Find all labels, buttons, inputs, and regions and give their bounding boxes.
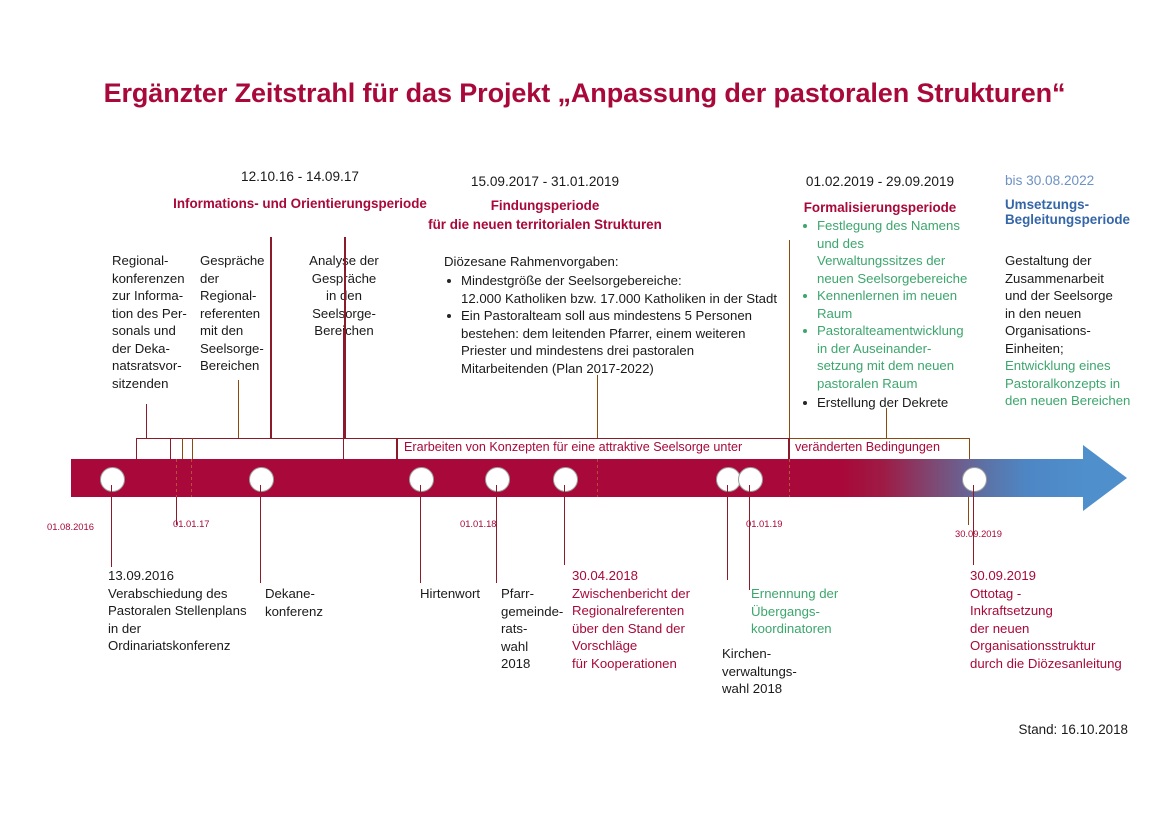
text-line: Regionalreferenten — [572, 602, 737, 620]
text-line: Vorschläge — [572, 637, 737, 655]
text-line: in den neuen — [1005, 305, 1155, 323]
bar-date-2016: 01.08.2016 — [47, 521, 94, 532]
bracket-divider — [396, 438, 398, 460]
page-title: Ergänzter Zeitstrahl für das Projekt „An… — [0, 78, 1169, 109]
event-ernennung-uebergangskoordinatoren: Ernennung der Übergangs- koordinatoren — [751, 585, 871, 638]
text-line: Organisations- — [1005, 322, 1155, 340]
period-2-name-line2: für die neuen territorialen Strukturen — [380, 216, 710, 234]
bar-date-2018: 01.01.18 — [460, 518, 497, 529]
text-line: referenten — [200, 305, 278, 323]
text-line: konferenz — [265, 603, 345, 621]
period-4-body-black: Gestaltung der Zusammenarbeit und der Se… — [1005, 252, 1155, 357]
text-line: Regional- — [112, 252, 194, 270]
bar-date-2019: 01.01.19 — [746, 518, 783, 529]
connector-line — [597, 375, 598, 438]
text-line: Bereichen — [200, 357, 278, 375]
text-line: 12.000 Katholiken bzw. 17.000 Katholiken… — [461, 290, 794, 308]
stand-footer: Stand: 16.10.2018 — [0, 722, 1128, 737]
text-line: rats- — [501, 620, 571, 638]
period-4-date-range: bis 30.08.2022 — [1005, 172, 1094, 190]
text-line: Verabschiedung des — [108, 585, 273, 603]
text-line: Erstellung der Dekrete — [817, 394, 985, 412]
text-line: und der Seelsorge — [1005, 287, 1155, 305]
text-line: Verwaltungssitzes der — [817, 252, 985, 270]
bullet-item: Erstellung der Dekrete — [800, 394, 985, 412]
text-line: wahl 2018 — [722, 680, 822, 698]
text-line: Gestaltung der — [1005, 252, 1155, 270]
bracket-tick — [192, 438, 193, 460]
text-line: Einheiten; — [1005, 340, 1155, 358]
text-line: pastoralen Raum — [817, 375, 985, 393]
text-line: in der Auseinander- — [817, 340, 985, 358]
text-line: sitzenden — [112, 375, 194, 393]
text-line: 13.09.2016 — [108, 567, 273, 585]
text-line: sonals und — [112, 322, 194, 340]
bullet-item: Mindestgröße der Seelsorgebereiche: 12.0… — [444, 272, 794, 307]
band-label-part2: veränderten Bedingungen — [795, 440, 940, 454]
bracket-tick — [182, 438, 183, 460]
text-line: der — [200, 270, 278, 288]
timeline-diagram: Ergänzter Zeitstrahl für das Projekt „An… — [0, 0, 1169, 827]
text-line: Hirtenwort — [420, 585, 500, 603]
bracket-end-left — [136, 438, 137, 460]
connector-line — [238, 380, 239, 438]
event-dekanekonferenz: Dekane- konferenz — [265, 585, 345, 620]
bullet-item: Kennenlernen im neuen Raum — [800, 287, 985, 322]
event-hirtenwort: Hirtenwort — [420, 585, 500, 603]
text-line: Zwischenbericht der — [572, 585, 737, 603]
text-line: Kennenlernen im neuen — [817, 287, 985, 305]
text-line: durch die Diözesanleitung — [970, 655, 1160, 673]
text-line: Priester und mindestens drei pastoralen — [461, 342, 794, 360]
period-3-name: Formalisierungsperiode — [780, 199, 980, 217]
text-line: Übergangs- — [751, 603, 871, 621]
text-line: der neuen — [970, 620, 1160, 638]
text-line: Mitarbeitenden (Plan 2017-2022) — [461, 360, 794, 378]
text-line: Dekane- — [265, 585, 345, 603]
text-line: 2018 — [501, 655, 571, 673]
date-tick — [111, 497, 112, 525]
text-line: zur Informa- — [112, 287, 194, 305]
bar-date-2017: 01.01.17 — [173, 518, 210, 529]
period-2-intro: Diözesane Rahmenvorgaben: — [444, 253, 784, 271]
bullet-item: Festlegung des Namens und des Verwaltung… — [800, 217, 985, 287]
connector-line — [886, 408, 887, 438]
connector-line — [270, 237, 272, 438]
text-line: Gespräche — [200, 252, 278, 270]
text-line: wahl — [501, 638, 571, 656]
event-verabschiedung-stellenplan: 13.09.2016 Verabschiedung des Pastoralen… — [108, 567, 273, 655]
text-line: setzung mit dem neuen — [817, 357, 985, 375]
timeline-bar — [71, 459, 1087, 497]
event-zwischenbericht: 30.04.2018 Zwischenbericht der Regionalr… — [572, 567, 737, 672]
text-line: Regional- — [200, 287, 278, 305]
text-line: Umsetzungs- — [1005, 197, 1155, 212]
text-line: Zusammenarbeit — [1005, 270, 1155, 288]
event-ottotag: 30.09.2019 Ottotag - Inkraftsetzung der … — [970, 567, 1160, 672]
bar-guide — [789, 459, 790, 497]
date-tick — [727, 497, 728, 525]
timeline-node[interactable] — [409, 467, 434, 492]
text-line: und des — [817, 235, 985, 253]
text-line: der Deka- — [112, 340, 194, 358]
period-2-bullet-list: Mindestgröße der Seelsorgebereiche: 12.0… — [444, 272, 794, 377]
bar-guide — [597, 459, 598, 497]
text-line: mit den — [200, 322, 278, 340]
text-line: über den Stand der — [572, 620, 737, 638]
text-line: Mindestgröße der Seelsorgebereiche: — [461, 272, 794, 290]
text-line: Organisationsstruktur — [970, 637, 1160, 655]
period-3-date-range: 01.02.2019 - 29.09.2019 — [780, 173, 980, 191]
text-line: Ernennung der — [751, 585, 871, 603]
connector-line — [789, 240, 790, 438]
text-line: Begleitungsperiode — [1005, 212, 1155, 227]
text-line: Kirchen- — [722, 645, 822, 663]
text-line: gemeinde- — [501, 603, 571, 621]
text-line: in der — [108, 620, 273, 638]
text-line: Inkraftsetzung — [970, 602, 1160, 620]
timeline-node[interactable] — [553, 467, 578, 492]
text-line: Ottotag - — [970, 585, 1160, 603]
period-4-name: Umsetzungs- Begleitungsperiode — [1005, 197, 1155, 227]
timeline-node[interactable] — [738, 467, 763, 492]
period-2-name: Findungsperiode — [380, 197, 710, 215]
text-line: Entwicklung eines — [1005, 357, 1157, 375]
bar-guide — [191, 459, 192, 497]
period-1-column-gespraeche: Gespräche der Regional- referenten mit d… — [200, 252, 278, 375]
period-2-date-range: 15.09.2017 - 31.01.2019 — [380, 173, 710, 191]
text-line: Seelsorge- — [200, 340, 278, 358]
period-4-body-green: Entwicklung eines Pastoralkonzepts in de… — [1005, 357, 1157, 410]
date-tick — [968, 497, 969, 525]
period-1-column-regionalkonferenzen: Regional- konferenzen zur Informa- tion … — [112, 252, 194, 392]
bracket-line-left — [136, 438, 789, 439]
text-line: Pastoralkonzepts in — [1005, 375, 1157, 393]
text-line: bestehen: dem leitenden Pfarrer, einem w… — [461, 325, 794, 343]
bullet-item: Pastoralteamentwicklung in der Auseinand… — [800, 322, 985, 392]
date-tick — [260, 497, 261, 525]
connector-line — [146, 404, 147, 438]
text-line: tion des Per- — [112, 305, 194, 323]
timeline-node[interactable] — [485, 467, 510, 492]
timeline-node[interactable] — [100, 467, 125, 492]
text-line: natsratsvor- — [112, 357, 194, 375]
bracket-tick — [343, 438, 344, 460]
bar-guide — [176, 459, 177, 497]
text-line: Ordinariatskonferenz — [108, 637, 273, 655]
text-line: Festlegung des Namens — [817, 217, 985, 235]
bracket-tick — [170, 438, 171, 460]
text-line: Pfarr- — [501, 585, 571, 603]
bracket-end-right — [969, 438, 970, 460]
timeline-node[interactable] — [249, 467, 274, 492]
text-line: verwaltungs- — [722, 663, 822, 681]
text-line: 30.04.2018 — [572, 567, 737, 585]
timeline-arrow-head — [1083, 445, 1127, 511]
event-kirchenverwaltungswahl: Kirchen- verwaltungs- wahl 2018 — [722, 645, 822, 698]
tick-line — [564, 485, 565, 565]
bracket-line-right — [789, 438, 970, 439]
connector-line — [344, 237, 346, 438]
date-tick — [420, 497, 421, 525]
text-line: für Kooperationen — [572, 655, 737, 673]
text-line: neuen Seelsorgebereiche — [817, 270, 985, 288]
event-pfarrgemeinderatswahl: Pfarr- gemeinde- rats- wahl 2018 — [501, 585, 571, 673]
timeline-node[interactable] — [962, 467, 987, 492]
period-3-bullet-list: Festlegung des Namens und des Verwaltung… — [800, 217, 985, 412]
text-line: Pastoralteamentwicklung — [817, 322, 985, 340]
bar-date-end: 30.09.2019 — [955, 528, 1002, 539]
text-line: Pastoralen Stellenplans — [108, 602, 273, 620]
text-line: Raum — [817, 305, 985, 323]
connector-line — [343, 330, 344, 438]
text-line: koordinatoren — [751, 620, 871, 638]
tick-line — [973, 485, 974, 565]
text-line: Ein Pastoralteam soll aus mindestens 5 P… — [461, 307, 794, 325]
text-line: den neuen Bereichen — [1005, 392, 1157, 410]
text-line: 30.09.2019 — [970, 567, 1160, 585]
text-line: konferenzen — [112, 270, 194, 288]
bullet-item: Ein Pastoralteam soll aus mindestens 5 P… — [444, 307, 794, 377]
